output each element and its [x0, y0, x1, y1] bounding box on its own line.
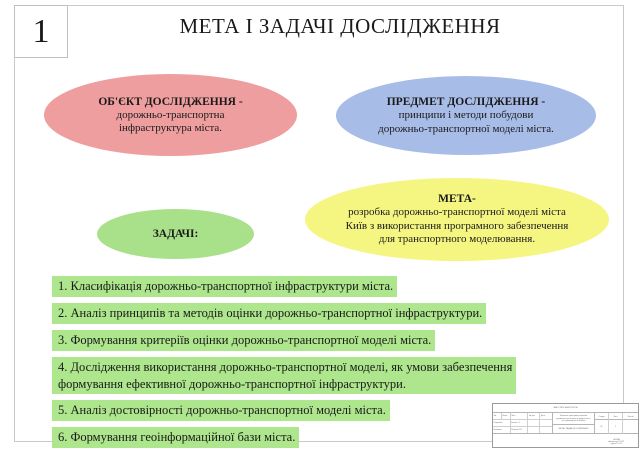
task-item-2: 2. Аналіз принципів та методів оцінки до…: [52, 303, 486, 324]
task-row: 3. Формування критеріїв оцінки дорожньо-…: [52, 330, 598, 357]
grid-role-2: Керівник: [493, 427, 511, 433]
task-item-3: 3. Формування критеріїв оцінки дорожньо-…: [52, 330, 435, 351]
title-block-organization: КНУБА факультет ГІСіУТ група ГІС-11: [595, 434, 638, 448]
title-block-grid-row: Зм. Кільк. Лист № док. Дата: [493, 413, 552, 420]
title-block-subtitle: МЕТА І ЗАДАЧІ ДОСЛІДЖЕННЯ: [553, 425, 594, 433]
task-item-5: 5. Аналіз достовірності дорожньо-транспо…: [52, 400, 390, 421]
goal-line-1: розробка дорожньо-транспортної моделі мі…: [348, 206, 566, 219]
title-block-header: МАГІСТЕРСЬКА РОБОТА: [493, 404, 638, 413]
subject-line-2: дорожньо-транспортної моделі міста.: [378, 123, 554, 136]
goal-ellipse: МЕТА- розробка дорожньо-транспортної мод…: [305, 178, 609, 261]
grid-blank: [540, 420, 552, 426]
grid-label-list: Лист: [511, 413, 529, 419]
grid-label-doc: № док.: [528, 413, 540, 419]
object-heading: ОБ'ЄКТ ДОСЛІДЖЕННЯ -: [98, 95, 242, 109]
goal-line-3: для транспортного моделювання.: [379, 233, 535, 246]
goal-heading: МЕТА-: [438, 192, 476, 206]
title-block-grid-row: Керівник Петров П.П.: [493, 427, 552, 433]
slide-canvas: 1 МЕТА І ЗАДАЧІ ДОСЛІДЖЕННЯ ОБ'ЄКТ ДОСЛІ…: [0, 0, 640, 452]
grid-blank: [540, 427, 552, 433]
task-item-4: 4. Дослідження використання дорожньо-тра…: [52, 357, 516, 395]
title-block-header-row: МАГІСТЕРСЬКА РОБОТА: [493, 404, 638, 413]
slide-number: 1: [33, 15, 50, 49]
title-block-right: Стадія Лист Листів М 1 КНУБА факультет Г…: [595, 413, 638, 433]
object-line-1: дорожньо-транспортна: [117, 109, 225, 122]
org-line-3: група ГІС-11: [611, 443, 622, 445]
title-block-right-labels: Стадія Лист Листів: [595, 413, 638, 420]
tasks-heading: ЗАДАЧІ:: [153, 227, 199, 241]
value-sheets: [623, 420, 638, 434]
value-sheet: 1: [609, 420, 623, 434]
task-row: 2. Аналіз принципів та методів оцінки до…: [52, 303, 598, 330]
subject-of-research-ellipse: ПРЕДМЕТ ДОСЛІДЖЕННЯ - принципи і методи …: [336, 76, 596, 155]
page-title: МЕТА І ЗАДАЧІ ДОСЛІДЖЕННЯ: [110, 14, 570, 39]
task-item-4-line-2: формування ефективної дорожньо-транспорт…: [58, 376, 512, 393]
grid-label-date: Дата: [540, 413, 552, 419]
subject-line-1: принципи і методи побудови: [399, 109, 534, 122]
grid-label-zm: Зм.: [493, 413, 502, 419]
title-block-org-row: КНУБА факультет ГІСіУТ група ГІС-11: [595, 434, 638, 448]
goal-line-2: Київ з використання програмного забезпеч…: [346, 220, 569, 233]
subject-heading: ПРЕДМЕТ ДОСЛІДЖЕННЯ -: [387, 95, 546, 109]
grid-name-2: Петров П.П.: [511, 427, 529, 433]
title-block-main-row: Зм. Кільк. Лист № док. Дата Розробив Іва…: [493, 413, 638, 434]
value-stage: М: [595, 420, 609, 434]
grid-label-kilk: Кільк.: [502, 413, 511, 419]
object-line-2: інфраструктура міста.: [119, 122, 222, 135]
grid-role-1: Розробив: [493, 420, 511, 426]
task-item-1: 1. Класифікація дорожньо-транспортної ін…: [52, 276, 397, 297]
label-sheets: Листів: [623, 413, 638, 420]
grid-name-1: Іванов І.І.: [511, 420, 529, 426]
title-block-main-line-3: (на прикладі міста Києва): [556, 420, 590, 422]
label-stage: Стадія: [595, 413, 609, 420]
grid-blank: [528, 427, 540, 433]
task-item-6: 6. Формування геоінформаційної бази міст…: [52, 427, 299, 448]
drawing-title-block: МАГІСТЕРСЬКА РОБОТА Зм. Кільк. Лист № до…: [492, 403, 639, 448]
task-row: 1. Класифікація дорожньо-транспортної ін…: [52, 276, 598, 303]
object-of-research-ellipse: ОБ'ЄКТ ДОСЛІДЖЕННЯ - дорожньо-транспортн…: [44, 74, 297, 156]
grid-blank: [528, 420, 540, 426]
title-block-signature-grid: Зм. Кільк. Лист № док. Дата Розробив Іва…: [493, 413, 553, 433]
slide-number-box: 1: [14, 5, 68, 58]
task-row: 4. Дослідження використання дорожньо-тра…: [52, 357, 598, 401]
label-sheet: Лист: [609, 413, 623, 420]
title-block-main-title: Розвиток принципів розробки дорожньо-тра…: [553, 413, 594, 425]
task-item-4-line-1: 4. Дослідження використання дорожньо-тра…: [58, 359, 512, 376]
tasks-ellipse: ЗАДАЧІ:: [97, 209, 254, 259]
title-block-grid-row: Розробив Іванов І.І.: [493, 420, 552, 427]
title-block-center: Розвиток принципів розробки дорожньо-тра…: [553, 413, 595, 433]
title-block-right-values: М 1: [595, 420, 638, 434]
